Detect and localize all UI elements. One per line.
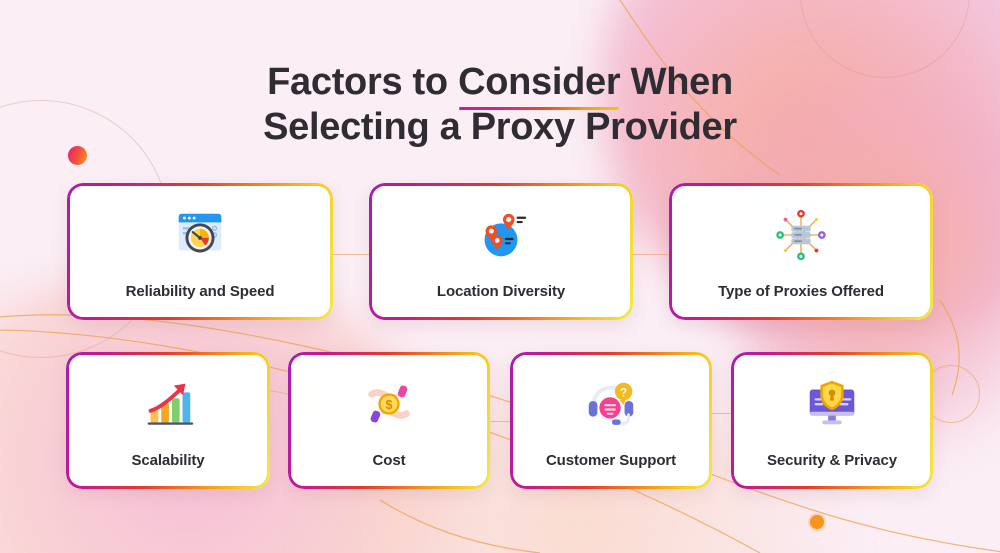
hands-holding-coin-icon: $	[356, 372, 422, 436]
svg-text:$: $	[386, 398, 393, 412]
browser-speedometer-icon	[167, 203, 233, 267]
server-network-nodes-icon	[768, 203, 834, 267]
bar-chart-growth-arrow-icon	[135, 372, 201, 436]
card-label: Location Diversity	[437, 283, 565, 300]
factor-card-reliability-and-speed[interactable]: Reliability and Speed	[67, 183, 333, 320]
card-label: Customer Support	[546, 452, 676, 469]
factor-card-type-of-proxies-offered[interactable]: Type of Proxies Offered	[669, 183, 933, 320]
title-highlight-consider: Consider	[458, 60, 620, 105]
svg-text:?: ?	[620, 386, 627, 399]
factor-card-cost[interactable]: $ Cost	[288, 352, 490, 489]
factor-card-customer-support[interactable]: ? Customer Support	[510, 352, 712, 489]
card-label: Type of Proxies Offered	[718, 283, 884, 300]
card-label: Cost	[373, 452, 406, 469]
card-label: Reliability and Speed	[126, 283, 275, 300]
card-label: Security & Privacy	[767, 452, 897, 469]
globe-map-pins-icon	[468, 203, 534, 267]
page-title: Factors to Consider When Selecting a Pro…	[0, 60, 1000, 150]
page-title-line-1: Factors to Consider When	[0, 60, 1000, 105]
connector-row1-2-3	[633, 254, 669, 255]
factor-card-scalability[interactable]: Scalability	[66, 352, 270, 489]
headset-chat-question-icon: ?	[578, 372, 644, 436]
page-title-line-2: Selecting a Proxy Provider	[0, 105, 1000, 150]
title-text-after: When	[620, 61, 732, 103]
title-text-before: Factors to	[267, 61, 458, 103]
connector-row1-1-2	[333, 254, 369, 255]
monitor-shield-lock-icon	[799, 372, 865, 436]
factor-card-security-and-privacy[interactable]: Security & Privacy	[731, 352, 933, 489]
card-label: Scalability	[131, 452, 204, 469]
factor-card-location-diversity[interactable]: Location Diversity	[369, 183, 633, 320]
